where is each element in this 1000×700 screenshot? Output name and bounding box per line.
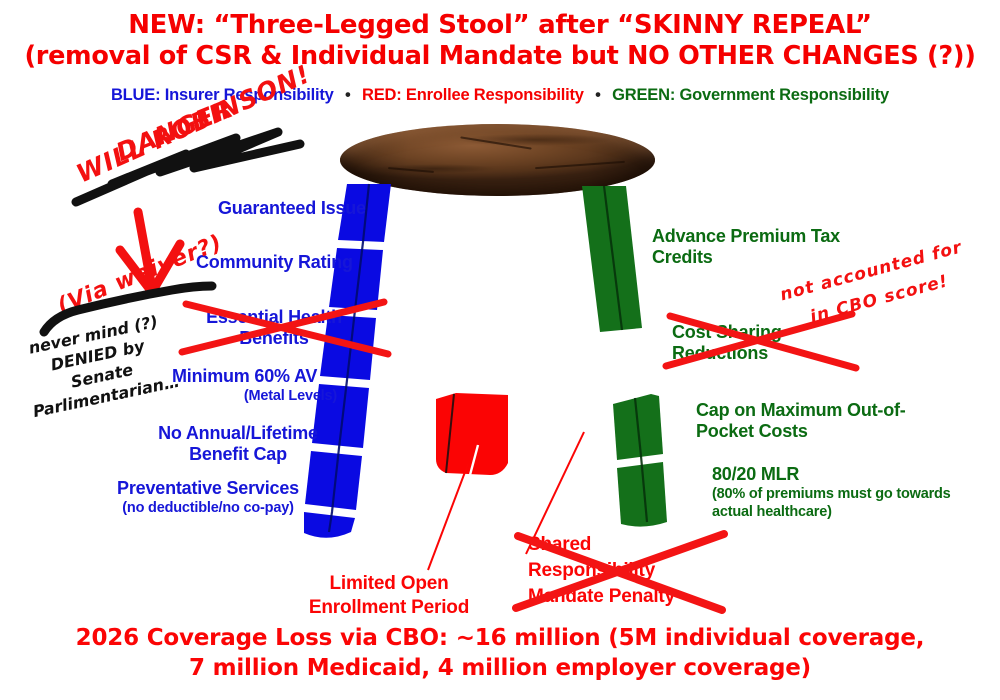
enrollee-label-limited-open-enrollment: Limited Open Enrollment Period <box>296 572 482 620</box>
label-text: Essential Health Benefits <box>206 307 342 348</box>
label-subtext: (Metal Levels) <box>172 387 337 405</box>
label-text: 80/20 MLR <box>712 464 799 484</box>
government-label-cost-sharing-reductions: Cost Sharing Reductions <box>672 322 842 364</box>
insurer-label-guaranteed-issue: Guaranteed Issue <box>218 198 366 219</box>
legend-separator-2: • <box>588 86 608 104</box>
wood-grain <box>340 124 655 196</box>
infographic-canvas: NEW: “Three-Legged Stool” after “SKINNY … <box>0 0 1000 700</box>
legend-green: GREEN: Government Responsibility <box>612 86 889 104</box>
label-text: No Annual/Lifetime Benefit Cap <box>158 423 318 464</box>
annotation-never-mind: never mind (?) DENIED by Senate Parlimen… <box>18 309 181 422</box>
government-label-mlr: 80/20 MLR (80% of premiums must go towar… <box>712 464 962 521</box>
label-text: Shared Responsibility Mandate Penalty <box>528 534 675 607</box>
footer-line-1: 2026 Coverage Loss via CBO: ~16 million … <box>76 625 925 651</box>
footer-caption: 2026 Coverage Loss via CBO: ~16 million … <box>0 623 1000 683</box>
label-subtext: (80% of premiums must go towards actual … <box>712 485 962 521</box>
annotation-via-waiver: (Via waiver?) <box>54 230 226 319</box>
label-text: Cap on Maximum Out-of-Pocket Costs <box>696 400 906 441</box>
label-text: Limited Open Enrollment Period <box>309 573 469 618</box>
page-title: NEW: “Three-Legged Stool” after “SKINNY … <box>0 10 1000 72</box>
stool-leg-red-stub <box>420 385 530 500</box>
insurer-label-no-annual-lifetime-cap: No Annual/Lifetime Benefit Cap <box>140 423 336 465</box>
title-line-1: NEW: “Three-Legged Stool” after “SKINNY … <box>128 10 872 40</box>
label-subtext: (no deductible/no co-pay) <box>98 499 318 517</box>
enrollee-label-shared-responsibility-mandate-penalty: Shared Responsibility Mandate Penalty <box>528 532 694 610</box>
label-text: Advance Premium Tax Credits <box>652 226 840 267</box>
label-text: Cost Sharing Reductions <box>672 322 782 363</box>
label-text: Minimum 60% AV <box>172 366 317 386</box>
stool-seat <box>340 124 655 196</box>
legend-red: RED: Enrollee Responsibility <box>362 86 584 104</box>
footer-line-2: 7 million Medicaid, 4 million employer c… <box>0 653 1000 683</box>
label-text: Guaranteed Issue <box>218 198 366 218</box>
title-line-2: (removal of CSR & Individual Mandate but… <box>0 41 1000 72</box>
annotation-danger-line-2: WILL ROBINSON! <box>72 59 315 188</box>
color-legend: BLUE: Insurer Responsibility • RED: Enro… <box>0 86 1000 105</box>
legend-separator-1: • <box>338 86 358 104</box>
label-text: Preventative Services <box>117 478 299 498</box>
government-label-cap-on-max-oop: Cap on Maximum Out-of-Pocket Costs <box>696 400 936 442</box>
government-label-advance-premium-tax-credits: Advance Premium Tax Credits <box>652 226 862 268</box>
insurer-label-preventative-services: Preventative Services (no deductible/no … <box>98 478 318 517</box>
insurer-label-essential-health-benefits: Essential Health Benefits <box>194 307 354 349</box>
insurer-label-minimum-av: Minimum 60% AV (Metal Levels) <box>172 366 337 405</box>
